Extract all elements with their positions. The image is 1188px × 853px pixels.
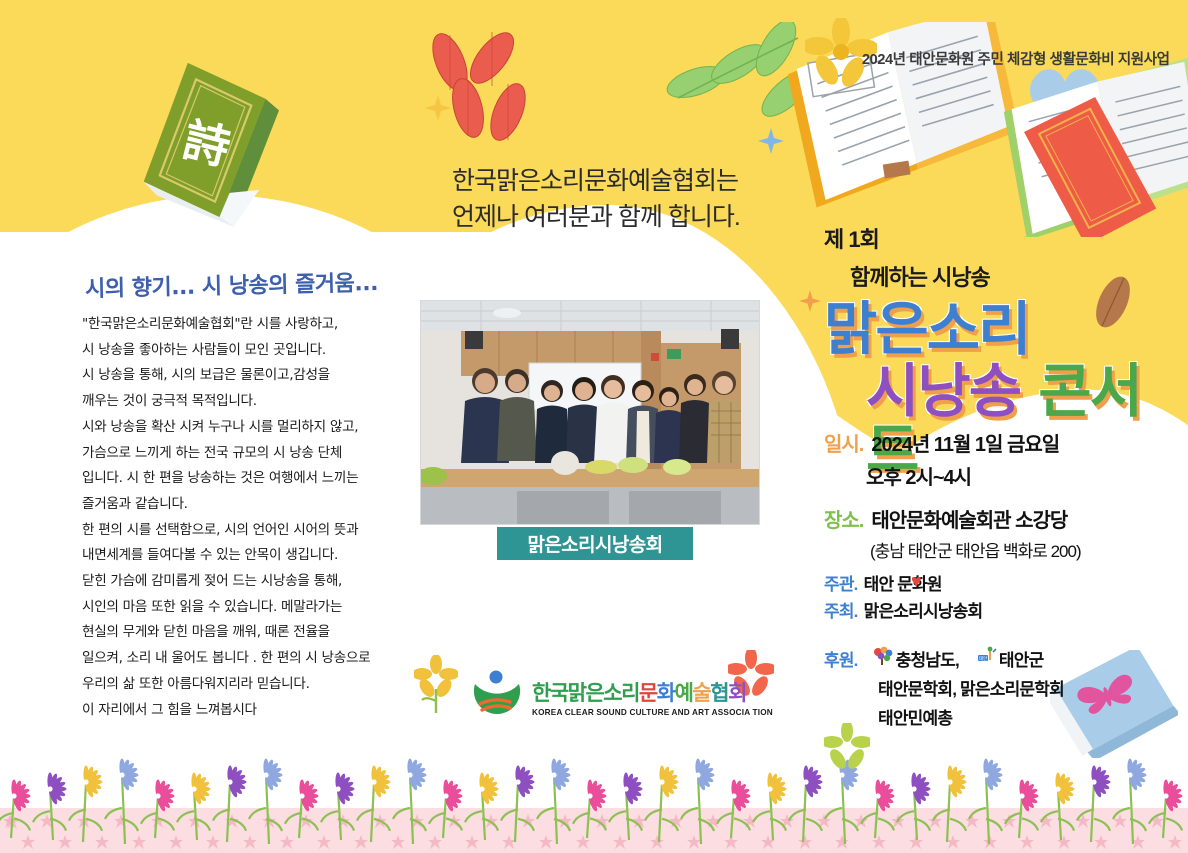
host-value: 맑은소리시낭송회 — [864, 597, 983, 622]
green-book-icon: 詩 — [140, 58, 290, 243]
sparkle-icon — [758, 128, 784, 154]
body-line: 시 낭송을 통해, 시의 보급은 물론이고,감성을 — [82, 363, 382, 389]
logo-char-3: 술 — [692, 682, 710, 705]
body-line: "한국맑은소리문화예술협회"란 시를 사랑하고, — [82, 312, 382, 338]
tagline-line-2: 언제나 여러분과 함께 합니다. — [452, 199, 740, 235]
place-value: 태안문화예술회관 소강당 — [871, 504, 1067, 533]
taean-logo-icon: 태안 — [977, 646, 997, 671]
sponsor-label: 후원. — [824, 646, 858, 671]
group-photo — [421, 301, 759, 524]
logo-mark — [470, 668, 524, 725]
left-column-heading: 시의 향기... 시 낭송의 즐거움... — [85, 265, 379, 303]
heart-icon: ♥ — [911, 572, 922, 590]
body-line: 이 자리에서 그 힘을 느껴봅시다 — [82, 698, 382, 724]
organizer-block: 주관. 태안 문화원 주최. 맑은소리시낭송회 — [824, 570, 982, 624]
logo-char-5: 회 — [728, 682, 746, 705]
body-line: 내면세계를 들여다볼 수 있는 안목이 생깁니다. — [82, 543, 382, 569]
photo-caption-badge: 맑은소리시낭송회 — [497, 527, 693, 560]
logo-korean-text: 한국맑은소리문화예술협회 — [532, 677, 773, 707]
event-ordinal: 제 1회 — [824, 222, 1188, 254]
support-program-caption: 2024년 태안문화원 주민 체감형 생활문화비 지원사업 — [862, 48, 1170, 69]
flower-icon — [414, 655, 458, 720]
date-row: 일시. 2024년 11월 1일 금요일 — [824, 428, 1081, 457]
sponsor-line-2: 태안문학회, 맑은소리문학회 — [878, 675, 1064, 700]
host-label: 주최. — [824, 597, 858, 622]
logo-char-1: 화 — [657, 682, 675, 705]
sparkle-icon — [425, 95, 451, 121]
body-line: 즐거움과 같습니다. — [82, 492, 382, 518]
body-line: 한 편의 시를 선택함으로, 시의 언어인 시어의 뜻과 — [82, 518, 382, 544]
logo-char-0: 문 — [639, 682, 657, 705]
body-line: 시인의 마음 또한 읽을 수 있습니다. 메말라가는 — [82, 595, 382, 621]
title-word-sinangsong: 시낭송 — [866, 357, 1020, 425]
body-line: 시 낭송을 좋아하는 사람들이 모인 곳입니다. — [82, 338, 382, 364]
logo-korean-part1: 한국맑은소리 — [532, 682, 639, 705]
body-line: 현실의 무게와 닫힌 마음을 깨워, 때론 전율을 — [82, 620, 382, 646]
address-value: (충남 태안군 태안읍 백화로 200) — [870, 537, 1081, 562]
body-line: 우리의 삶 또한 아름다워지리라 믿습니다. — [82, 672, 382, 698]
date-label: 일시. — [824, 428, 863, 457]
flower-icon — [824, 723, 870, 774]
body-line: 시와 낭송을 확산 시켜 누구나 시를 멀리하지 않고, — [82, 415, 382, 441]
chungnam-logo-icon — [872, 646, 894, 671]
association-tagline: 한국맑은소리문화예술협회는 언제나 여러분과 함께 합니다. — [452, 163, 740, 236]
body-line: 깨우는 것이 궁극적 목적입니다. — [82, 389, 382, 415]
event-subtitle: 함께하는 시낭송 — [850, 260, 1188, 292]
body-line: 입니다. 시 한 편을 낭송하는 것은 여행에서 느끼는 — [82, 466, 382, 492]
body-line: 일으켜, 소리 내 울어도 봅니다 . 한 편의 시 낭송으로 — [82, 646, 382, 672]
left-column-body: "한국맑은소리문화예술협회"란 시를 사랑하고, 시 낭송을 좋아하는 사람들이… — [82, 312, 382, 723]
title-word-malgeunsori: 맑은소리 — [824, 295, 1029, 363]
time-value: 오후 2시~4시 — [866, 461, 1081, 490]
organizer-row: 주관. 태안 문화원 — [824, 570, 982, 595]
logo-char-2: 예 — [675, 682, 693, 705]
logo-char-4: 협 — [710, 682, 728, 705]
organizer-value: 태안 문화원 — [864, 570, 942, 595]
sponsor-chungnam: 충청남도, — [896, 646, 959, 671]
blue-book-butterfly-icon — [1050, 650, 1178, 763]
poster-canvas: 詩 — [0, 0, 1188, 853]
organizer-label: 주관. — [824, 570, 858, 595]
body-line: 닫힌 가슴에 감미롭게 젖어 드는 시낭송을 통해, — [82, 569, 382, 595]
sponsor-taean: 태안군 — [999, 646, 1044, 671]
body-line: 가슴으로 느끼게 하는 전국 규모의 시 낭송 단체 — [82, 441, 382, 467]
event-title-line-1: 맑은소리 — [824, 300, 1188, 360]
sponsor-block: 후원. 충청남도, 태안 태안군 — [824, 646, 1064, 729]
svg-text:태안: 태안 — [979, 655, 987, 662]
sparkle-icon — [799, 290, 825, 316]
date-value: 2024년 11월 1일 금요일 — [871, 428, 1059, 457]
sponsor-first-row: 후원. 충청남도, 태안 태안군 — [824, 646, 1064, 671]
place-row: 장소. 태안문화예술회관 소강당 — [824, 504, 1081, 533]
logo-english-text: KOREA CLEAR SOUND CULTURE AND ART ASSOCI… — [532, 708, 773, 717]
place-label: 장소. — [824, 504, 863, 533]
tagline-line-1: 한국맑은소리문화예술협회는 — [452, 163, 740, 199]
association-logo: 한국맑은소리문화예술협회 KOREA CLEAR SOUND CULTURE A… — [470, 668, 773, 725]
host-row: 주최. 맑은소리시낭송회 — [824, 597, 982, 622]
sponsor-line-3: 태안민예총 — [878, 704, 1064, 729]
flower-border — [0, 738, 1188, 853]
event-info-block: 일시. 2024년 11월 1일 금요일 오후 2시~4시 장소. 태안문화예술… — [824, 428, 1081, 562]
